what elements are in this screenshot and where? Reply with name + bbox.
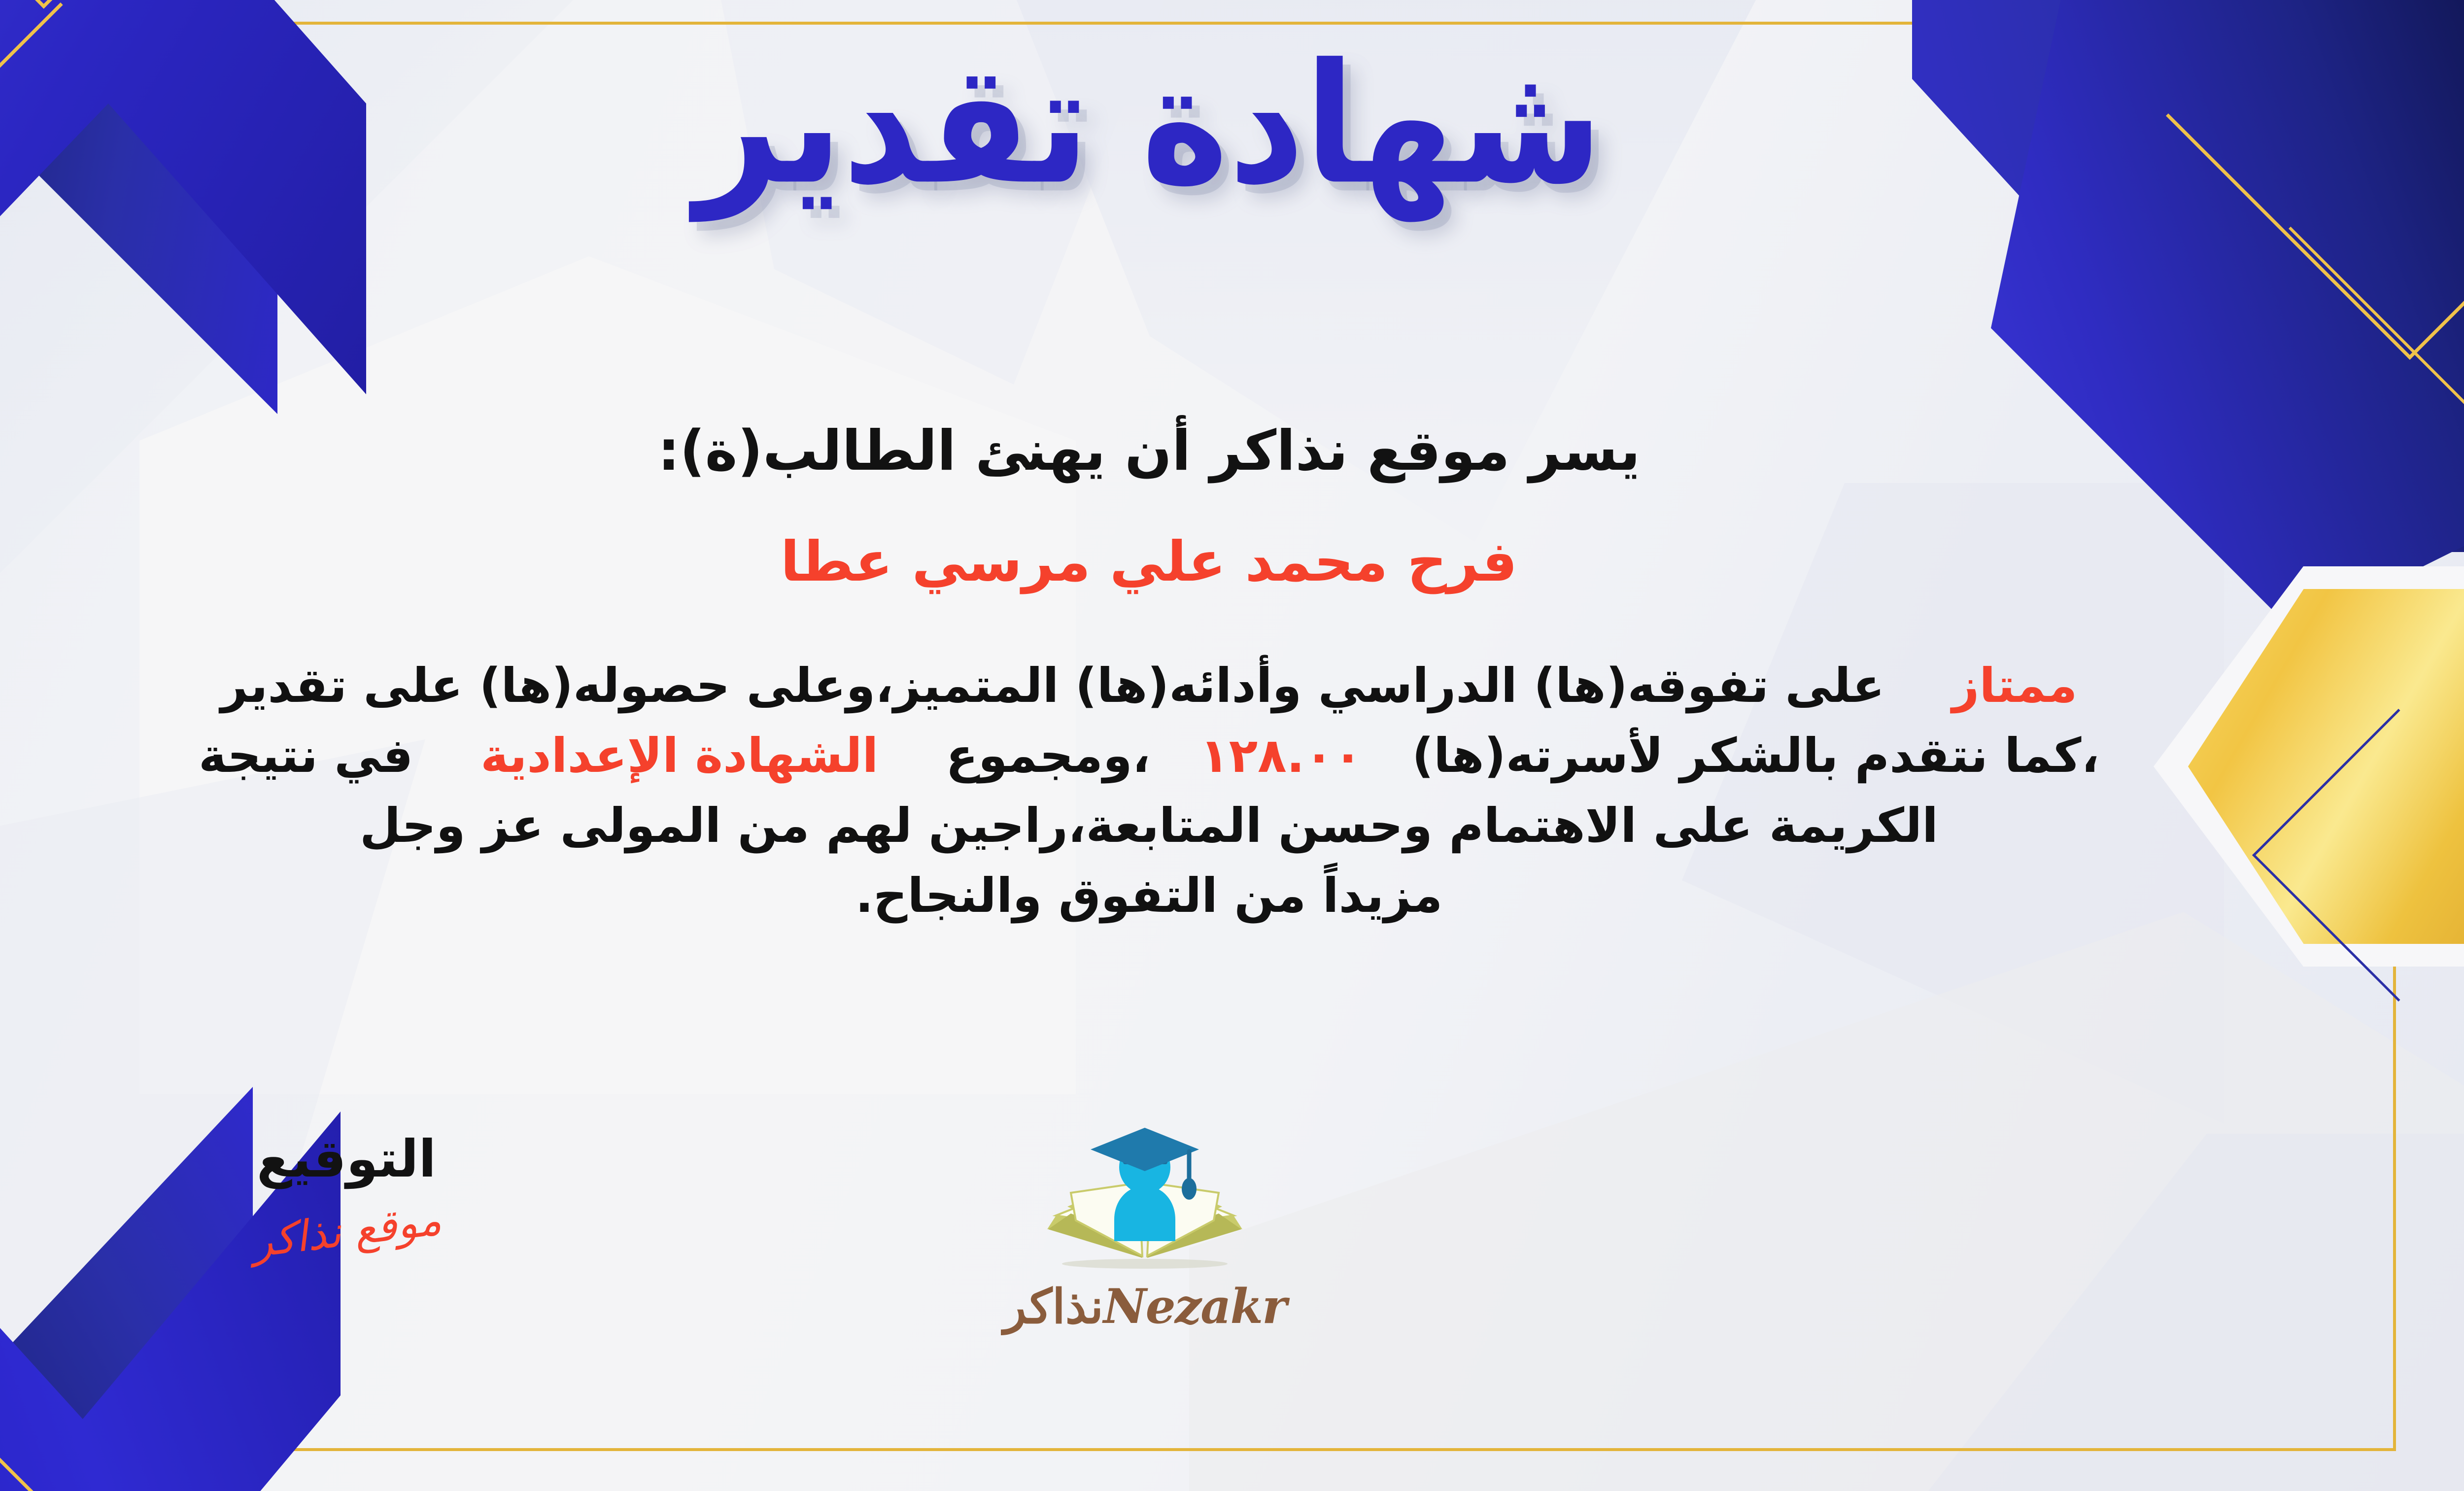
body-line-2-mid: ،ومجموع	[946, 728, 1150, 783]
certificate-body: ممتاز على تفوقه(ها) الدراسي وأدائه(ها) ا…	[0, 651, 2390, 931]
signature-block: التوقيع موقع نذاكر	[189, 1129, 504, 1256]
logo-wordmark-ar: نذاكر	[1003, 1279, 1103, 1334]
logo-wordmark: Nezakrنذاكر	[982, 1279, 1307, 1334]
student-name: فرح محمد علي مرسي عطا	[0, 530, 2464, 594]
signature-mark: موقع نذاكر	[249, 1195, 444, 1267]
graduate-on-book-icon	[982, 1124, 1307, 1277]
body-line-1-text: على تفوقه(ها) الدراسي وأدائه(ها) المتميز…	[221, 658, 1885, 713]
certificate-title: شهادة تقدير	[0, 37, 2464, 211]
body-line-3: الكريمة على الاهتمام وحسن المتابعة،راجين…	[0, 791, 2390, 861]
body-line-1: ممتاز على تفوقه(ها) الدراسي وأدائه(ها) ا…	[0, 651, 2390, 721]
logo-wordmark-en: Nezakr	[1103, 1279, 1286, 1334]
body-line-2-head: في نتيجة	[199, 728, 413, 783]
body-line-2-tail: ،كما نتقدم بالشكر لأسرته(ها)	[1412, 728, 2099, 783]
exam-name-value: الشهادة الإعدادية	[480, 728, 878, 783]
certificate-content: شهادة تقدير يسر موقع نذاكر أن يهنئ الطال…	[0, 0, 2464, 1491]
signature-label: التوقيع	[189, 1129, 504, 1189]
site-logo: Nezakrنذاكر	[982, 1124, 1307, 1334]
grade-value: ممتاز	[1952, 658, 2077, 713]
greeting-line: يسر موقع نذاكر أن يهنئ الطالب(ة):	[0, 419, 2464, 483]
body-line-4: مزيداً من التفوق والنجاح.	[0, 861, 2390, 931]
certificate-canvas: شهادة تقدير يسر موقع نذاكر أن يهنئ الطال…	[0, 0, 2464, 1491]
body-line-2: ،كما نتقدم بالشكر لأسرته(ها) ١٢٨.٠٠ ،ومج…	[0, 721, 2390, 791]
total-score-value: ١٢٨.٠٠	[1200, 728, 1362, 783]
